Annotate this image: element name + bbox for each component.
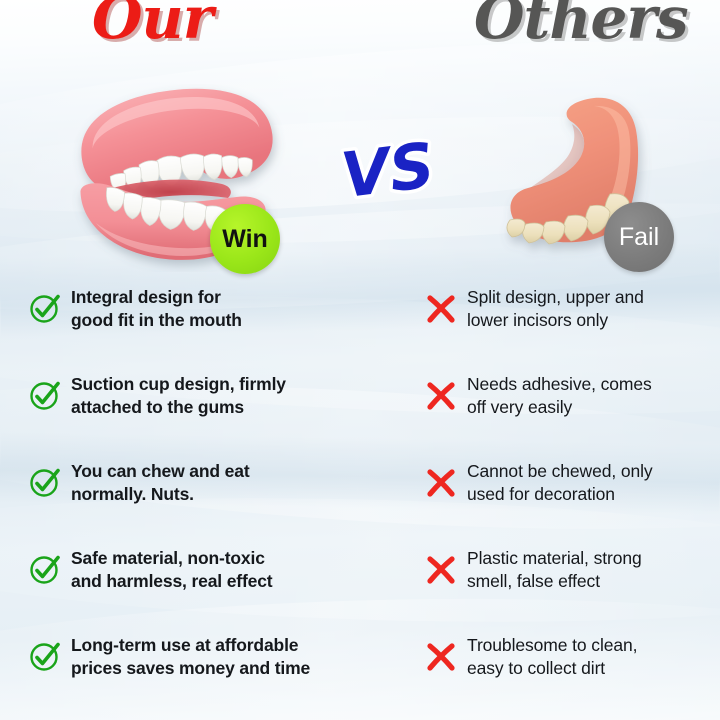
feature-pro: You can chew and eat normally. Nuts. xyxy=(28,460,398,506)
feature-row: Long-term use at affordable prices saves… xyxy=(0,634,720,720)
check-icon xyxy=(28,639,62,673)
win-badge: Win xyxy=(210,204,280,274)
header-row: Our Others xyxy=(0,0,720,68)
feature-pro-text: Suction cup design, firmly attached to t… xyxy=(71,373,286,419)
feature-row: You can chew and eat normally. Nuts. Can… xyxy=(0,460,720,547)
page-title-our: Our xyxy=(92,0,212,47)
check-icon xyxy=(28,552,62,586)
feature-pro-text: Safe material, non-toxic and harmless, r… xyxy=(71,547,272,593)
feature-pro: Long-term use at affordable prices saves… xyxy=(28,634,398,680)
cross-icon xyxy=(424,639,458,673)
feature-con: Plastic material, strong smell, false ef… xyxy=(424,547,714,593)
feature-pro: Integral design for good fit in the mout… xyxy=(28,286,398,332)
feature-row: Safe material, non-toxic and harmless, r… xyxy=(0,547,720,634)
versus-mark: VS VS xyxy=(338,136,434,212)
cross-icon xyxy=(424,378,458,412)
cross-icon xyxy=(424,465,458,499)
feature-list: Integral design for good fit in the mout… xyxy=(0,286,720,720)
feature-con-text: Needs adhesive, comes off very easily xyxy=(467,373,652,419)
feature-con: Cannot be chewed, only used for decorati… xyxy=(424,460,714,506)
feature-row: Suction cup design, firmly attached to t… xyxy=(0,373,720,460)
feature-con-text: Cannot be chewed, only used for decorati… xyxy=(467,460,653,506)
feature-con: Troublesome to clean, easy to collect di… xyxy=(424,634,714,680)
fail-badge: Fail xyxy=(604,202,674,272)
feature-row: Integral design for good fit in the mout… xyxy=(0,286,720,373)
feature-pro-text: Integral design for good fit in the mout… xyxy=(71,286,242,332)
cross-icon xyxy=(424,552,458,586)
feature-pro-text: Long-term use at affordable prices saves… xyxy=(71,634,310,680)
cross-icon xyxy=(424,291,458,325)
feature-con-text: Split design, upper and lower incisors o… xyxy=(467,286,644,332)
svg-text:VS: VS xyxy=(338,136,434,212)
feature-pro: Suction cup design, firmly attached to t… xyxy=(28,373,398,419)
feature-con: Needs adhesive, comes off very easily xyxy=(424,373,714,419)
check-icon xyxy=(28,465,62,499)
feature-pro-text: You can chew and eat normally. Nuts. xyxy=(71,460,250,506)
check-icon xyxy=(28,291,62,325)
feature-con-text: Troublesome to clean, easy to collect di… xyxy=(467,634,637,680)
check-icon xyxy=(28,378,62,412)
feature-con-text: Plastic material, strong smell, false ef… xyxy=(467,547,642,593)
page-title-others: Others xyxy=(474,0,688,47)
comparison-infographic: Our Others xyxy=(0,0,720,720)
feature-con: Split design, upper and lower incisors o… xyxy=(424,286,714,332)
feature-pro: Safe material, non-toxic and harmless, r… xyxy=(28,547,398,593)
